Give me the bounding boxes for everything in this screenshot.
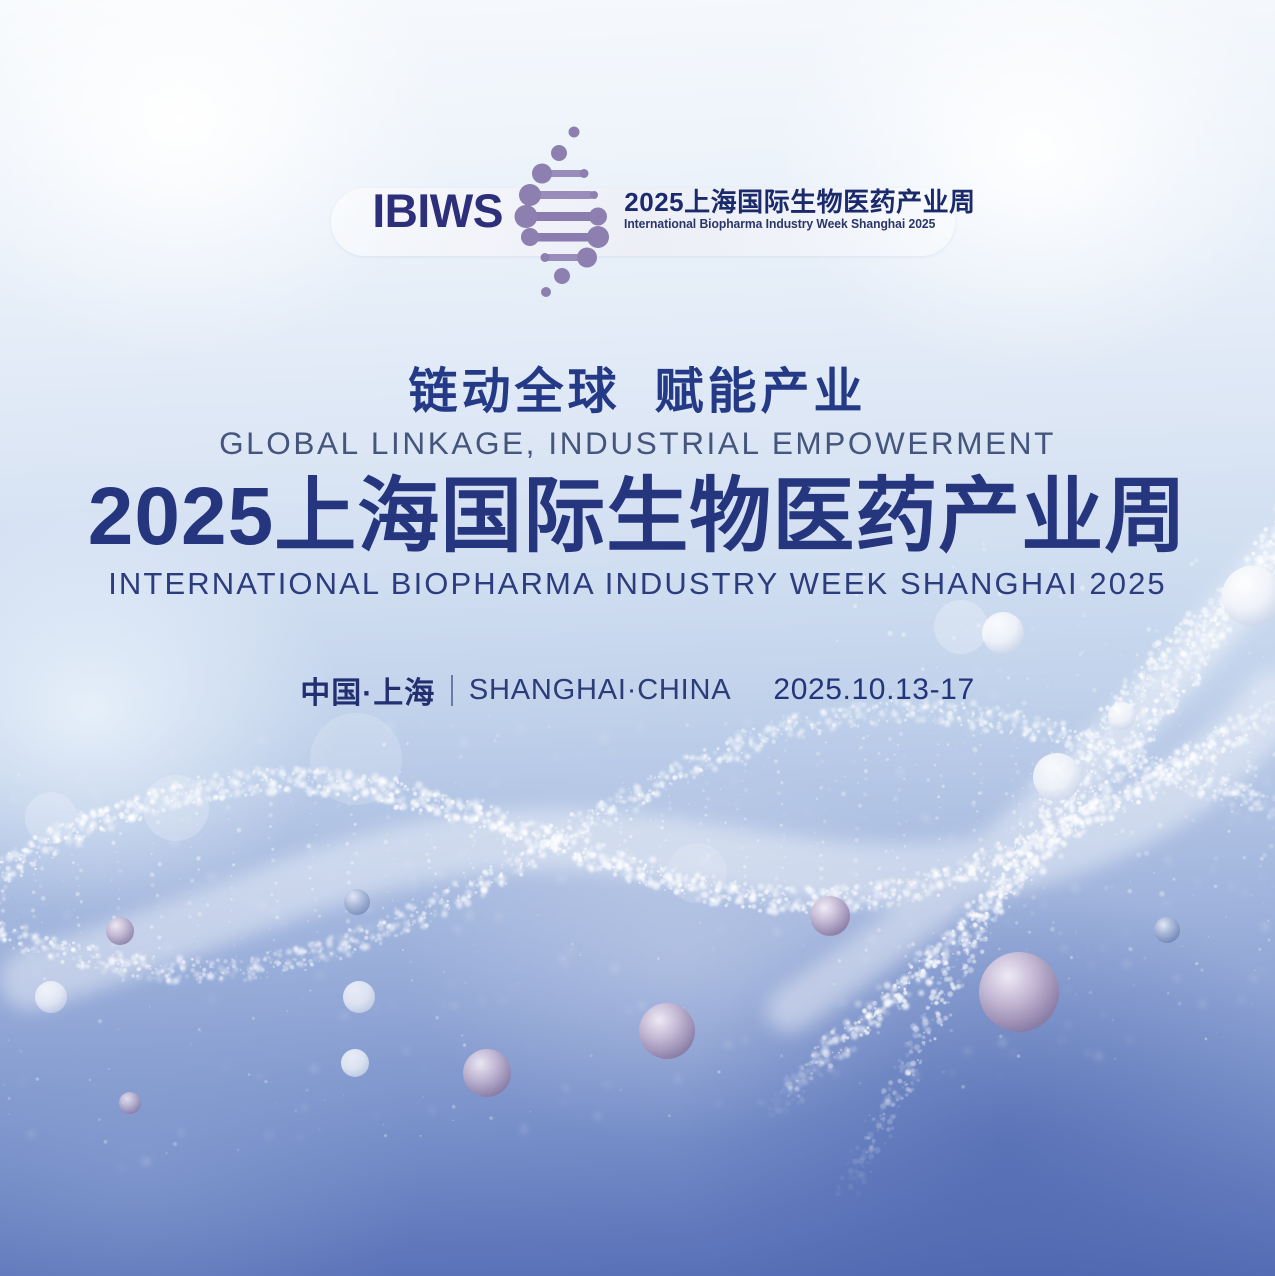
dna-helix-icon (512, 120, 620, 300)
logo-text-block: 2025上海国际生物医药产业周 International Biopharma … (624, 189, 975, 232)
bg-wash-bottom-right (555, 786, 1275, 1276)
bg-wash-center (300, 690, 1060, 1210)
venue-location-cn: 中国·上海 (300, 668, 435, 712)
headline-block: 链动全球赋能产业 GLOBAL LINKAGE, INDUSTRIAL EMPO… (0, 366, 1275, 602)
slogan-cn: 链动全球赋能产业 (0, 366, 1275, 419)
logo-lockup: IBIWS (331, 120, 955, 300)
venue-bar: 中国·上海 SHANGHAI·CHINA 2025.10.13-17 (0, 668, 1275, 712)
slogan-cn-part2: 赋能产业 (655, 365, 867, 419)
logo-title-en: International Biopharma Industry Week Sh… (624, 218, 965, 231)
ibiws-wordmark: IBIWS (372, 187, 503, 234)
bokeh-spheres (25, 566, 1275, 1114)
slogan-cn-part1: 链动全球 (408, 365, 620, 419)
slogan-en: GLOBAL LINKAGE, INDUSTRIAL EMPOWERMENT (0, 425, 1275, 462)
poster-canvas: IBIWS (0, 0, 1275, 1276)
bg-wash-bottom-left (0, 856, 520, 1276)
logo-title-cn: 2025上海国际生物医药产业周 (624, 189, 975, 217)
venue-divider (451, 675, 453, 706)
venue-dates: 2025.10.13-17 (773, 673, 974, 707)
main-title-cn: 2025上海国际生物医药产业周 (0, 472, 1275, 562)
main-title-en: INTERNATIONAL BIOPHARMA INDUSTRY WEEK SH… (0, 566, 1275, 602)
venue-location-en: SHANGHAI·CHINA (469, 674, 732, 707)
